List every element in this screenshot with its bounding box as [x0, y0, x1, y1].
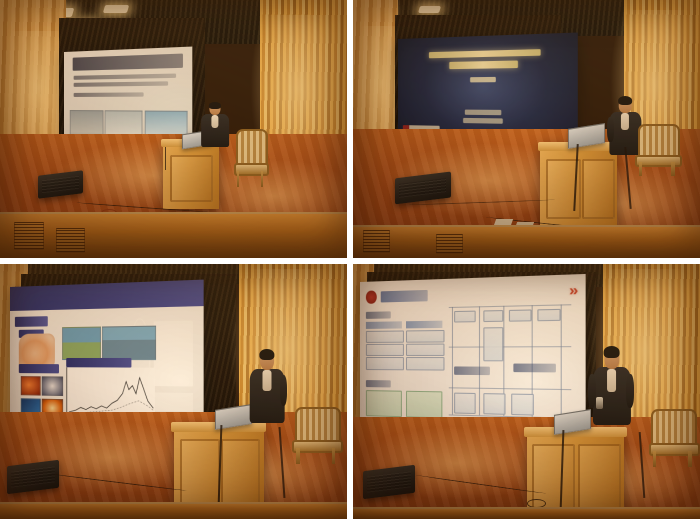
chart-svg — [68, 367, 156, 418]
chair-seat — [635, 155, 682, 167]
diagram-box — [366, 330, 403, 343]
slide-text-line — [74, 92, 144, 97]
diagram-box — [483, 310, 504, 322]
diagram-connector — [449, 387, 571, 390]
chair-leg — [671, 162, 674, 176]
diagram-connector — [449, 346, 571, 348]
speaker-arm — [280, 375, 288, 406]
chair-leg — [296, 448, 300, 464]
podium-panel — [578, 444, 621, 510]
slide-org-line — [463, 118, 502, 123]
diagram-box — [366, 357, 403, 370]
speaker-hair — [603, 346, 620, 358]
slide-bottom-right: » — [360, 274, 586, 438]
podium — [540, 142, 616, 227]
speaker-shirt — [263, 370, 272, 391]
speaker-shirt — [621, 113, 629, 130]
stage-chair — [295, 407, 337, 463]
standing-speaker — [250, 351, 285, 422]
slide-group-label — [366, 311, 391, 319]
slide-title-line-1 — [429, 48, 540, 58]
auditorium-stage: » — [353, 264, 700, 519]
apron-vent — [14, 222, 44, 250]
podium-panel — [221, 439, 260, 507]
slide-bullet-icon — [366, 290, 376, 304]
apron-vent — [436, 234, 462, 254]
speaker-arm — [588, 374, 596, 408]
slide-annotation — [513, 364, 556, 372]
stage-apron — [353, 507, 700, 519]
slide-author — [470, 76, 495, 82]
stage-apron — [0, 502, 347, 519]
chevron-right-icon: » — [569, 281, 576, 299]
slide-title-bar — [72, 53, 183, 70]
panel-top-left[interactable] — [0, 0, 347, 258]
panel-bottom-right[interactable]: » — [353, 264, 700, 519]
chair-seat — [292, 440, 343, 453]
ceiling-light — [418, 6, 441, 13]
ceiling-light — [103, 5, 130, 13]
auditorium-stage — [0, 264, 347, 519]
slide-text-line — [74, 81, 168, 87]
slide-title-line-2 — [450, 60, 518, 68]
diagram-box — [483, 393, 506, 415]
university-name-en — [154, 392, 194, 411]
chair-leg — [653, 451, 657, 467]
slide-photo-offshore — [103, 326, 157, 360]
microphone-stand — [165, 147, 166, 170]
auditorium-stage — [0, 0, 347, 258]
diagram-box — [366, 344, 403, 357]
photo-collage: » — [0, 0, 700, 519]
diagram-box — [406, 357, 445, 370]
diagram-connector — [449, 304, 571, 308]
apron-vent — [56, 228, 86, 253]
microphone-icon — [596, 397, 603, 410]
speaker-hair — [260, 349, 275, 360]
slide-thumbnail — [21, 376, 41, 396]
slide-block-title — [67, 358, 133, 367]
slide-column-header — [406, 320, 443, 328]
university-name — [154, 321, 194, 387]
podium — [163, 139, 219, 209]
chair-seat — [649, 443, 700, 456]
diagram-box — [454, 310, 476, 322]
speaker-hair — [209, 102, 221, 109]
slide-org-line — [465, 110, 501, 115]
slide-thumbnail — [43, 376, 63, 396]
standing-speaker — [592, 348, 630, 425]
slide-block-title — [19, 364, 59, 373]
diagram-box — [508, 309, 532, 321]
seated-speaker — [201, 103, 229, 147]
diagram-tile — [406, 391, 443, 418]
chair-seat — [234, 163, 269, 176]
diagram-box — [537, 309, 561, 321]
chair-leg — [688, 451, 692, 467]
chair-leg — [639, 162, 642, 176]
stage-apron — [0, 212, 347, 258]
speaker-hair — [619, 96, 633, 105]
slide-annotation — [454, 367, 490, 375]
slide-title — [380, 290, 427, 302]
slide-section-title — [16, 316, 48, 327]
diagram-box — [511, 394, 535, 416]
diagram-box — [454, 393, 476, 414]
stage-chair — [651, 409, 693, 465]
podium-panel — [170, 155, 213, 202]
slide-photo-windfarm — [63, 327, 101, 361]
podium-panel — [180, 439, 220, 507]
projection-screen: » — [360, 274, 586, 438]
speaker-shirt — [607, 369, 617, 392]
slide-text-line — [74, 73, 177, 79]
diagram-box — [406, 343, 445, 356]
slide-column-header — [366, 321, 401, 329]
chair-leg — [261, 171, 263, 187]
chair-leg — [332, 448, 336, 464]
slide-group-label — [366, 380, 391, 388]
diagram-box — [406, 330, 445, 343]
diagram-connector — [561, 304, 562, 418]
auditorium-stage — [353, 0, 700, 258]
apron-vent — [363, 230, 389, 253]
panel-top-right[interactable] — [353, 0, 700, 258]
stage-apron — [353, 225, 700, 258]
diagram-connector — [451, 306, 452, 414]
podium-panel — [582, 159, 615, 219]
chair-leg — [237, 171, 239, 187]
speaker-arm — [607, 117, 614, 142]
speaker-shirt — [212, 115, 219, 128]
stage-chair — [236, 129, 264, 186]
diagram-tile — [366, 390, 401, 417]
diagram-box — [483, 327, 504, 361]
stage-chair — [638, 124, 676, 176]
speaker-arm — [626, 374, 634, 408]
diagram-connector — [478, 306, 479, 415]
panel-bottom-left[interactable] — [0, 264, 347, 519]
